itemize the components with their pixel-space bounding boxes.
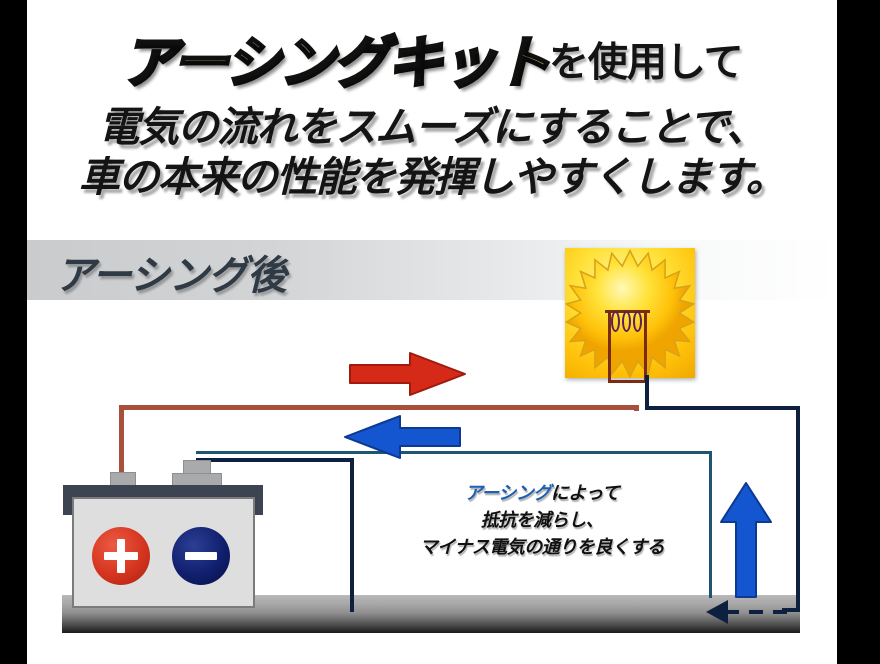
- positive-wire-horizontal: [119, 405, 639, 410]
- diagram-annotation: アーシングによって 抵抗を減らし、 マイナス電気の通りを良くする: [382, 480, 702, 561]
- blue-up-arrow-icon: [718, 480, 774, 600]
- lamp-coil-icon: [633, 311, 642, 332]
- annotation-line-2: 抵抗を減らし、: [382, 507, 702, 534]
- headline-line-1: アーシングキットを使用して: [27, 18, 837, 99]
- earth-wire-vertical: [709, 451, 712, 598]
- headline-gold-text: アーシングキット: [121, 31, 549, 94]
- annotation-line-1: アーシングによって: [382, 480, 702, 507]
- negative-wire-top: [645, 406, 800, 410]
- headline-black-text: を使用して: [549, 41, 743, 85]
- poster-canvas: アーシングキットを使用して 電気の流れをスムーズにすることで、 車の本来の性能を…: [0, 0, 880, 664]
- battery-negative-wire-vertical: [350, 458, 354, 612]
- letterbox-left: [0, 0, 27, 664]
- red-right-arrow-icon: [348, 351, 468, 397]
- section-title: アーシング後: [55, 243, 286, 301]
- letterbox-right: [837, 0, 880, 664]
- blue-left-arrow-icon: [342, 414, 462, 460]
- battery-negative-terminal-icon: [172, 527, 230, 585]
- annotation-highlight: アーシング: [465, 483, 551, 503]
- negative-wire-lamp-drop: [645, 375, 649, 410]
- annotation-line-1-rest: によって: [551, 483, 620, 503]
- negative-wire-right-vertical: [796, 406, 800, 612]
- ground-triangle-icon: [706, 600, 728, 624]
- ground-return-dashed-line: [725, 610, 787, 614]
- positive-wire-vertical: [119, 405, 124, 477]
- lamp-coil-icon: [611, 311, 620, 332]
- battery-negative-wire-horizontal: [196, 458, 354, 462]
- headline-block: アーシングキットを使用して 電気の流れをスムーズにすることで、 車の本来の性能を…: [27, 0, 837, 215]
- lamp-coil-icon: [622, 311, 631, 332]
- headline-line-3: 車の本来の性能を発揮しやすくします。: [27, 143, 837, 203]
- annotation-line-3: マイナス電気の通りを良くする: [382, 534, 702, 561]
- positive-wire-lamp-drop: [634, 405, 639, 411]
- battery-positive-terminal-icon: [92, 527, 150, 585]
